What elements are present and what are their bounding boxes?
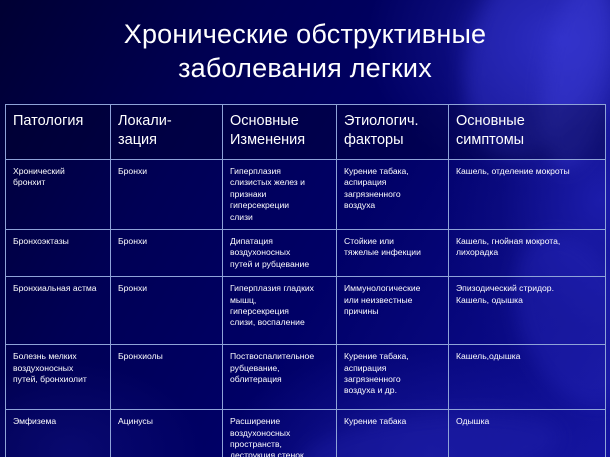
column-header-main-changes: Основные Изменения xyxy=(223,105,337,160)
cell-localization: Бронхи xyxy=(111,230,223,277)
slide: Хронические обструктивные заболевания ле… xyxy=(0,0,610,457)
table-row: Бронхиальная астма Бронхи Гиперплазия гл… xyxy=(6,277,606,345)
cell-localization-text: Ацинусы xyxy=(118,416,216,427)
cell-symptoms-text: Одышка xyxy=(456,416,599,427)
cell-localization-text: Бронхи xyxy=(118,236,216,247)
cell-etiology: Курение табака, аспирация загрязненного … xyxy=(337,345,449,410)
cell-localization: Ацинусы xyxy=(111,410,223,457)
table-header-row: Патология Локали- зация Основные Изменен… xyxy=(6,105,606,160)
cell-main-changes: Поствоспалительное рубцевание, облитерац… xyxy=(223,345,337,410)
cell-main-changes-text: Дипатация воздухоносных путей и рубцеван… xyxy=(230,236,330,270)
column-header-etiology-text: Этиологич. факторы xyxy=(344,112,442,150)
cell-main-changes: Гиперплазия слизистых желез и признаки г… xyxy=(223,160,337,230)
cell-main-changes-text: Гиперплазия гладких мышц, гиперсекреция … xyxy=(230,283,330,329)
cell-etiology-text: Иммунологические или неизвестные причины xyxy=(344,283,442,317)
column-header-localization: Локали- зация xyxy=(111,105,223,160)
cell-localization: Бронхи xyxy=(111,160,223,230)
cell-etiology-text: Курение табака, аспирация загрязненного … xyxy=(344,166,442,212)
cell-symptoms-text: Кашель, отделение мокроты xyxy=(456,166,599,177)
cell-symptoms: Кашель, гнойная мокрота, лихорадка xyxy=(449,230,606,277)
cell-main-changes: Гиперплазия гладких мышц, гиперсекреция … xyxy=(223,277,337,345)
copd-comparison-table: Патология Локали- зация Основные Изменен… xyxy=(5,104,606,457)
cell-symptoms: Кашель,одышка xyxy=(449,345,606,410)
column-header-symptoms-text: Основные симптомы xyxy=(456,112,599,150)
column-header-symptoms: Основные симптомы xyxy=(449,105,606,160)
table-row: Эмфизема Ацинусы Расширение воздухоносны… xyxy=(6,410,606,457)
cell-main-changes-text: Расширение воздухоносных пространств, де… xyxy=(230,416,330,457)
column-header-etiology: Этиологич. факторы xyxy=(337,105,449,160)
cell-main-changes-text: Гиперплазия слизистых желез и признаки г… xyxy=(230,166,330,223)
cell-pathology: Эмфизема xyxy=(6,410,111,457)
cell-etiology: Стойкие или тяжелые инфекции xyxy=(337,230,449,277)
cell-symptoms-text: Кашель, гнойная мокрота, лихорадка xyxy=(456,236,599,259)
cell-etiology-text: Стойкие или тяжелые инфекции xyxy=(344,236,442,259)
cell-localization: Бронхиолы xyxy=(111,345,223,410)
page-title: Хронические обструктивные заболевания ле… xyxy=(0,0,610,85)
cell-etiology: Курение табака, аспирация загрязненного … xyxy=(337,160,449,230)
cell-main-changes-text: Поствоспалительное рубцевание, облитерац… xyxy=(230,351,330,385)
column-header-main-changes-text: Основные Изменения xyxy=(230,112,330,150)
cell-etiology: Иммунологические или неизвестные причины xyxy=(337,277,449,345)
cell-localization: Бронхи xyxy=(111,277,223,345)
cell-symptoms: Эпизодический стридор. Кашель, одышка xyxy=(449,277,606,345)
cell-pathology: Бронхоэктазы xyxy=(6,230,111,277)
comparison-table-wrapper: Патология Локали- зация Основные Изменен… xyxy=(5,104,605,457)
cell-pathology-text: Бронхоэктазы xyxy=(13,236,104,247)
cell-main-changes: Дипатация воздухоносных путей и рубцеван… xyxy=(223,230,337,277)
cell-symptoms: Кашель, отделение мокроты xyxy=(449,160,606,230)
cell-pathology: Болезнь мелких воздухоносных путей, брон… xyxy=(6,345,111,410)
cell-pathology: Бронхиальная астма xyxy=(6,277,111,345)
cell-pathology-text: Болезнь мелких воздухоносных путей, брон… xyxy=(13,351,104,385)
column-header-pathology-text: Патология xyxy=(13,112,104,131)
cell-symptoms: Одышка xyxy=(449,410,606,457)
cell-localization-text: Бронхи xyxy=(118,166,216,177)
cell-pathology-text: Бронхиальная астма xyxy=(13,283,104,294)
cell-symptoms-text: Эпизодический стридор. Кашель, одышка xyxy=(456,283,599,306)
table-row: Болезнь мелких воздухоносных путей, брон… xyxy=(6,345,606,410)
table-row: Бронхоэктазы Бронхи Дипатация воздухонос… xyxy=(6,230,606,277)
cell-main-changes: Расширение воздухоносных пространств, де… xyxy=(223,410,337,457)
cell-localization-text: Бронхи xyxy=(118,283,216,294)
table-row: Хронический бронхит Бронхи Гиперплазия с… xyxy=(6,160,606,230)
cell-localization-text: Бронхиолы xyxy=(118,351,216,362)
cell-symptoms-text: Кашель,одышка xyxy=(456,351,599,362)
cell-pathology-text: Хронический бронхит xyxy=(13,166,104,189)
cell-pathology-text: Эмфизема xyxy=(13,416,104,427)
column-header-localization-text: Локали- зация xyxy=(118,112,216,150)
cell-etiology: Курение табака xyxy=(337,410,449,457)
cell-etiology-text: Курение табака, аспирация загрязненного … xyxy=(344,351,442,397)
cell-etiology-text: Курение табака xyxy=(344,416,442,427)
column-header-pathology: Патология xyxy=(6,105,111,160)
cell-pathology: Хронический бронхит xyxy=(6,160,111,230)
